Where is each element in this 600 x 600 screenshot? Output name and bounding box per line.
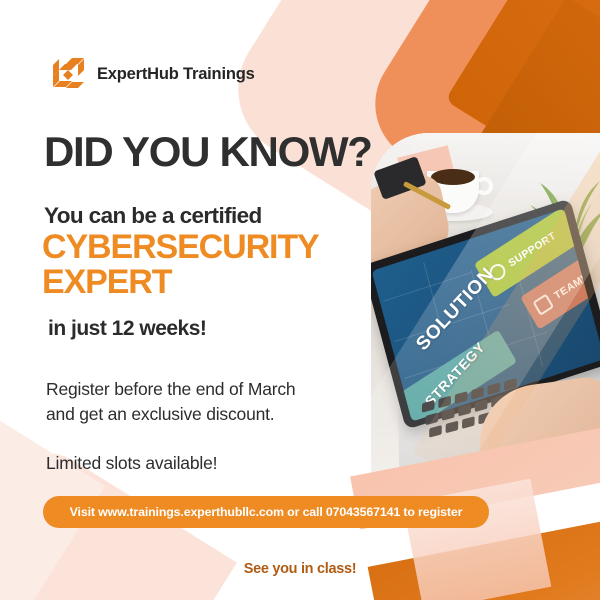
subheading-line-2: in just 12 weeks!	[48, 317, 206, 341]
body-line-2: and get an exclusive discount.	[46, 402, 295, 427]
laptop-business-dashboard-photo: SUPPORT TEAMWORK SOLUTION STRATEGY	[371, 133, 600, 473]
body-line-3: Limited slots available!	[46, 453, 217, 474]
corner-decoration-bottom-right-white	[34, 475, 600, 600]
footer-note: See you in class!	[0, 561, 600, 577]
body-paragraph: Register before the end of March and get…	[46, 377, 295, 428]
highlight-line-1: CYBERSECURITY	[42, 230, 319, 265]
body-line-1: Register before the end of March	[46, 377, 295, 402]
experthub-logo-icon	[52, 57, 86, 91]
poster-canvas: SUPPORT TEAMWORK SOLUTION STRATEGY	[0, 0, 600, 600]
photo-cup-handle	[475, 177, 493, 195]
subheading-line-1: You can be a certified	[44, 203, 262, 229]
highlight-heading: CYBERSECURITY EXPERT	[42, 230, 319, 301]
highlight-line-2: EXPERT	[42, 265, 319, 300]
cta-button[interactable]: Visit www.trainings.experthubllc.com or …	[43, 496, 489, 528]
page-title: DID YOU KNOW?	[44, 131, 372, 173]
brand-logo[interactable]: ExpertHub Trainings	[52, 57, 255, 91]
cta-button-label: Visit www.trainings.experthubllc.com or …	[70, 505, 463, 519]
brand-name: ExpertHub Trainings	[97, 65, 255, 84]
